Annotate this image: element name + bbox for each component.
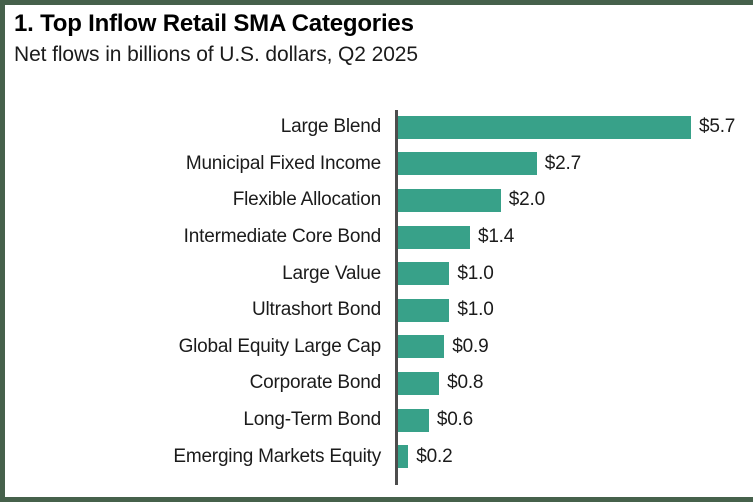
bar (398, 262, 449, 285)
bar-row: Intermediate Core Bond$1.4 (5, 219, 753, 256)
bar-chart-plot-area: Large Blend$5.7Municipal Fixed Income$2.… (5, 109, 753, 491)
bar-value-label: $0.6 (437, 409, 473, 431)
bar-and-value: $1.0 (398, 292, 494, 329)
bar (398, 409, 429, 432)
bar-category-label: Large Value (282, 263, 381, 285)
bar-row: Municipal Fixed Income$2.7 (5, 146, 753, 183)
bar-row: Long-Term Bond$0.6 (5, 402, 753, 439)
bar-and-value: $0.6 (398, 402, 473, 439)
bar-category-label: Long-Term Bond (243, 409, 381, 431)
bar-category-label: Emerging Markets Equity (173, 446, 381, 468)
bar-category-label: Flexible Allocation (233, 189, 381, 211)
bar (398, 189, 501, 212)
bar-category-label: Large Blend (281, 116, 381, 138)
bar-value-label: $0.2 (416, 446, 452, 468)
bar-and-value: $1.4 (398, 219, 514, 256)
bar-row: Global Equity Large Cap$0.9 (5, 329, 753, 366)
bar-and-value: $2.7 (398, 146, 581, 183)
bar-value-label: $0.9 (452, 336, 488, 358)
bar-row: Large Blend$5.7 (5, 109, 753, 146)
chart-figure: 1. Top Inflow Retail SMA Categories Net … (0, 0, 753, 502)
bar-value-label: $2.7 (545, 153, 581, 175)
bar-row: Flexible Allocation$2.0 (5, 182, 753, 219)
bar-row: Emerging Markets Equity$0.2 (5, 438, 753, 475)
bar (398, 372, 439, 395)
bar-value-label: $1.4 (478, 226, 514, 248)
bar (398, 445, 408, 468)
bar (398, 226, 470, 249)
bar-value-label: $1.0 (457, 299, 493, 321)
bar-value-label: $5.7 (699, 116, 735, 138)
bar-category-label: Municipal Fixed Income (186, 153, 381, 175)
bar-category-label: Intermediate Core Bond (184, 226, 381, 248)
bar-row: Ultrashort Bond$1.0 (5, 292, 753, 329)
bar-row: Corporate Bond$0.8 (5, 365, 753, 402)
bar-value-label: $0.8 (447, 372, 483, 394)
bar-rows: Large Blend$5.7Municipal Fixed Income$2.… (5, 109, 753, 475)
chart-title: 1. Top Inflow Retail SMA Categories (14, 9, 744, 39)
bar (398, 335, 444, 358)
bar-and-value: $1.0 (398, 255, 494, 292)
bar-category-label: Global Equity Large Cap (179, 336, 381, 358)
bar-and-value: $0.2 (398, 438, 452, 475)
bar (398, 299, 449, 322)
bar (398, 152, 537, 175)
bar (398, 116, 691, 139)
bar-value-label: $2.0 (509, 189, 545, 211)
chart-subtitle: Net flows in billions of U.S. dollars, Q… (14, 41, 744, 69)
bar-row: Large Value$1.0 (5, 255, 753, 292)
bar-category-label: Ultrashort Bond (252, 299, 381, 321)
chart-header: 1. Top Inflow Retail SMA Categories Net … (14, 9, 744, 69)
bar-and-value: $0.9 (398, 329, 488, 366)
bar-and-value: $0.8 (398, 365, 483, 402)
bar-and-value: $2.0 (398, 182, 545, 219)
bar-category-label: Corporate Bond (250, 372, 381, 394)
bar-and-value: $5.7 (398, 109, 735, 146)
bar-value-label: $1.0 (457, 263, 493, 285)
